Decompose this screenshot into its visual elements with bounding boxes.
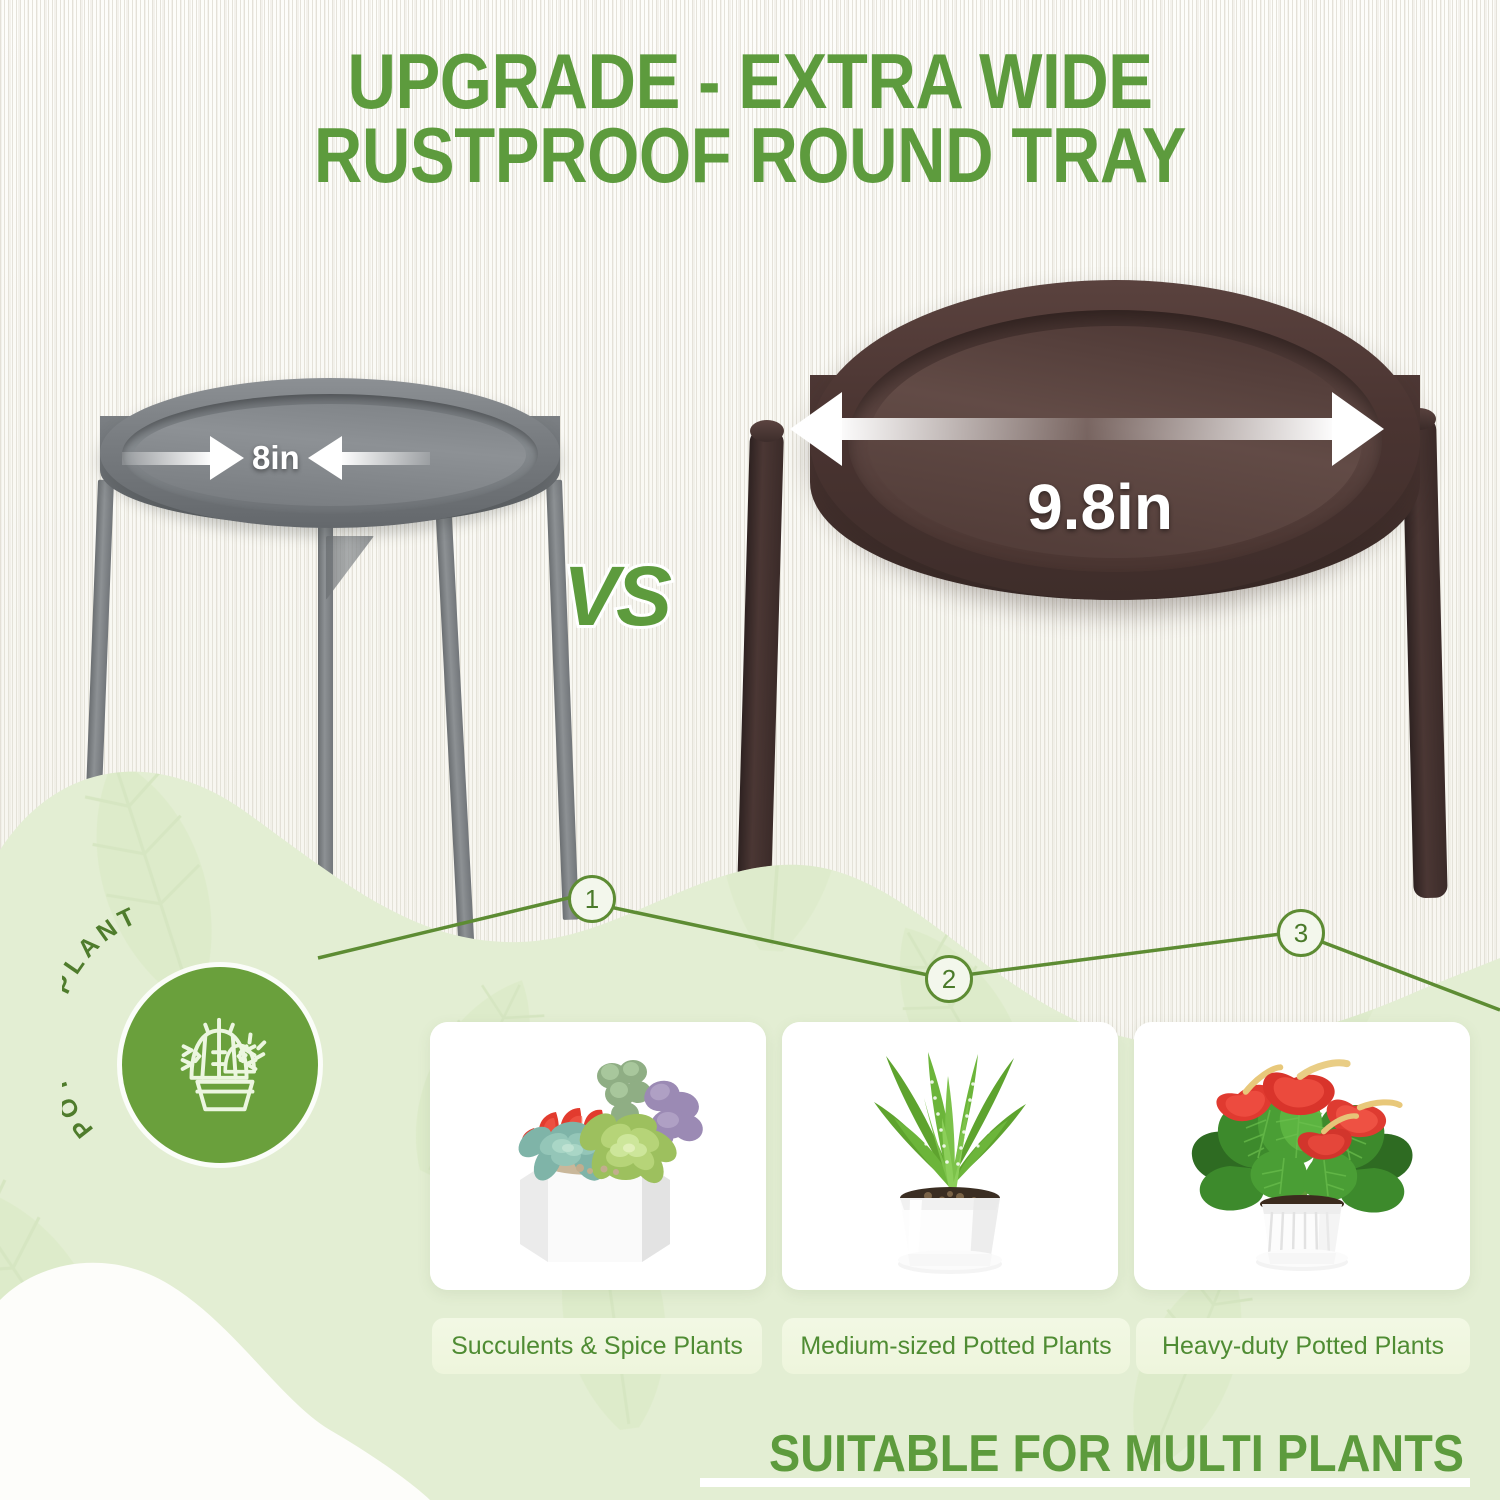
- plant-card[interactable]: [782, 1022, 1118, 1290]
- card-label-pill: Succulents & Spice Plants: [432, 1318, 762, 1374]
- headline-line-2: RUSTPROOF ROUND TRAY: [314, 111, 1186, 199]
- plant-card[interactable]: [430, 1022, 766, 1290]
- plant-card[interactable]: [1134, 1022, 1470, 1290]
- card-label-text: Medium-sized Potted Plants: [800, 1332, 1111, 1361]
- succulent-plant-photo: [430, 1022, 766, 1290]
- product-infographic: UPGRADE - EXTRA WIDERUSTPROOF ROUND TRAY…: [0, 0, 1500, 1500]
- aloe-plant-photo: [782, 1022, 1118, 1290]
- card-label-pill: Heavy-duty Potted Plants: [1136, 1318, 1470, 1374]
- brown-tray-dimension: [790, 392, 1440, 466]
- brown-leg-cap: [750, 420, 784, 442]
- brown-dimension-label: 9.8in: [730, 470, 1470, 544]
- footer-underline: [700, 1478, 1470, 1487]
- gray-dimension-label: 8in: [252, 439, 300, 477]
- svg-text:POTTED PLANT: POTTED PLANT: [62, 901, 144, 1144]
- page-title: UPGRADE - EXTRA WIDERUSTPROOF ROUND TRAY: [105, 44, 1395, 192]
- connector-node-2: 2: [925, 955, 973, 1003]
- potted-plant-badge: POTTED PLANT: [100, 945, 340, 1185]
- cactus-icon: [162, 1007, 280, 1125]
- badge-text-path: POTTED PLANT: [62, 901, 144, 1144]
- card-label-text: Succulents & Spice Plants: [451, 1332, 743, 1361]
- gray-stand-bracket: [326, 536, 374, 600]
- connector-node-3: 3: [1277, 909, 1325, 957]
- connector-polyline: [318, 898, 1500, 1010]
- gray-tray-dimension: 8in: [122, 436, 538, 480]
- footer-headline: SUITABLE FOR MULTI PLANTS: [150, 1424, 1500, 1484]
- card-label-text: Heavy-duty Potted Plants: [1162, 1332, 1444, 1361]
- anthurium-plant-photo: [1134, 1022, 1470, 1290]
- vs-badge: VS: [563, 548, 669, 645]
- connector-node-1: 1: [568, 875, 616, 923]
- card-label-pill: Medium-sized Potted Plants: [782, 1318, 1130, 1374]
